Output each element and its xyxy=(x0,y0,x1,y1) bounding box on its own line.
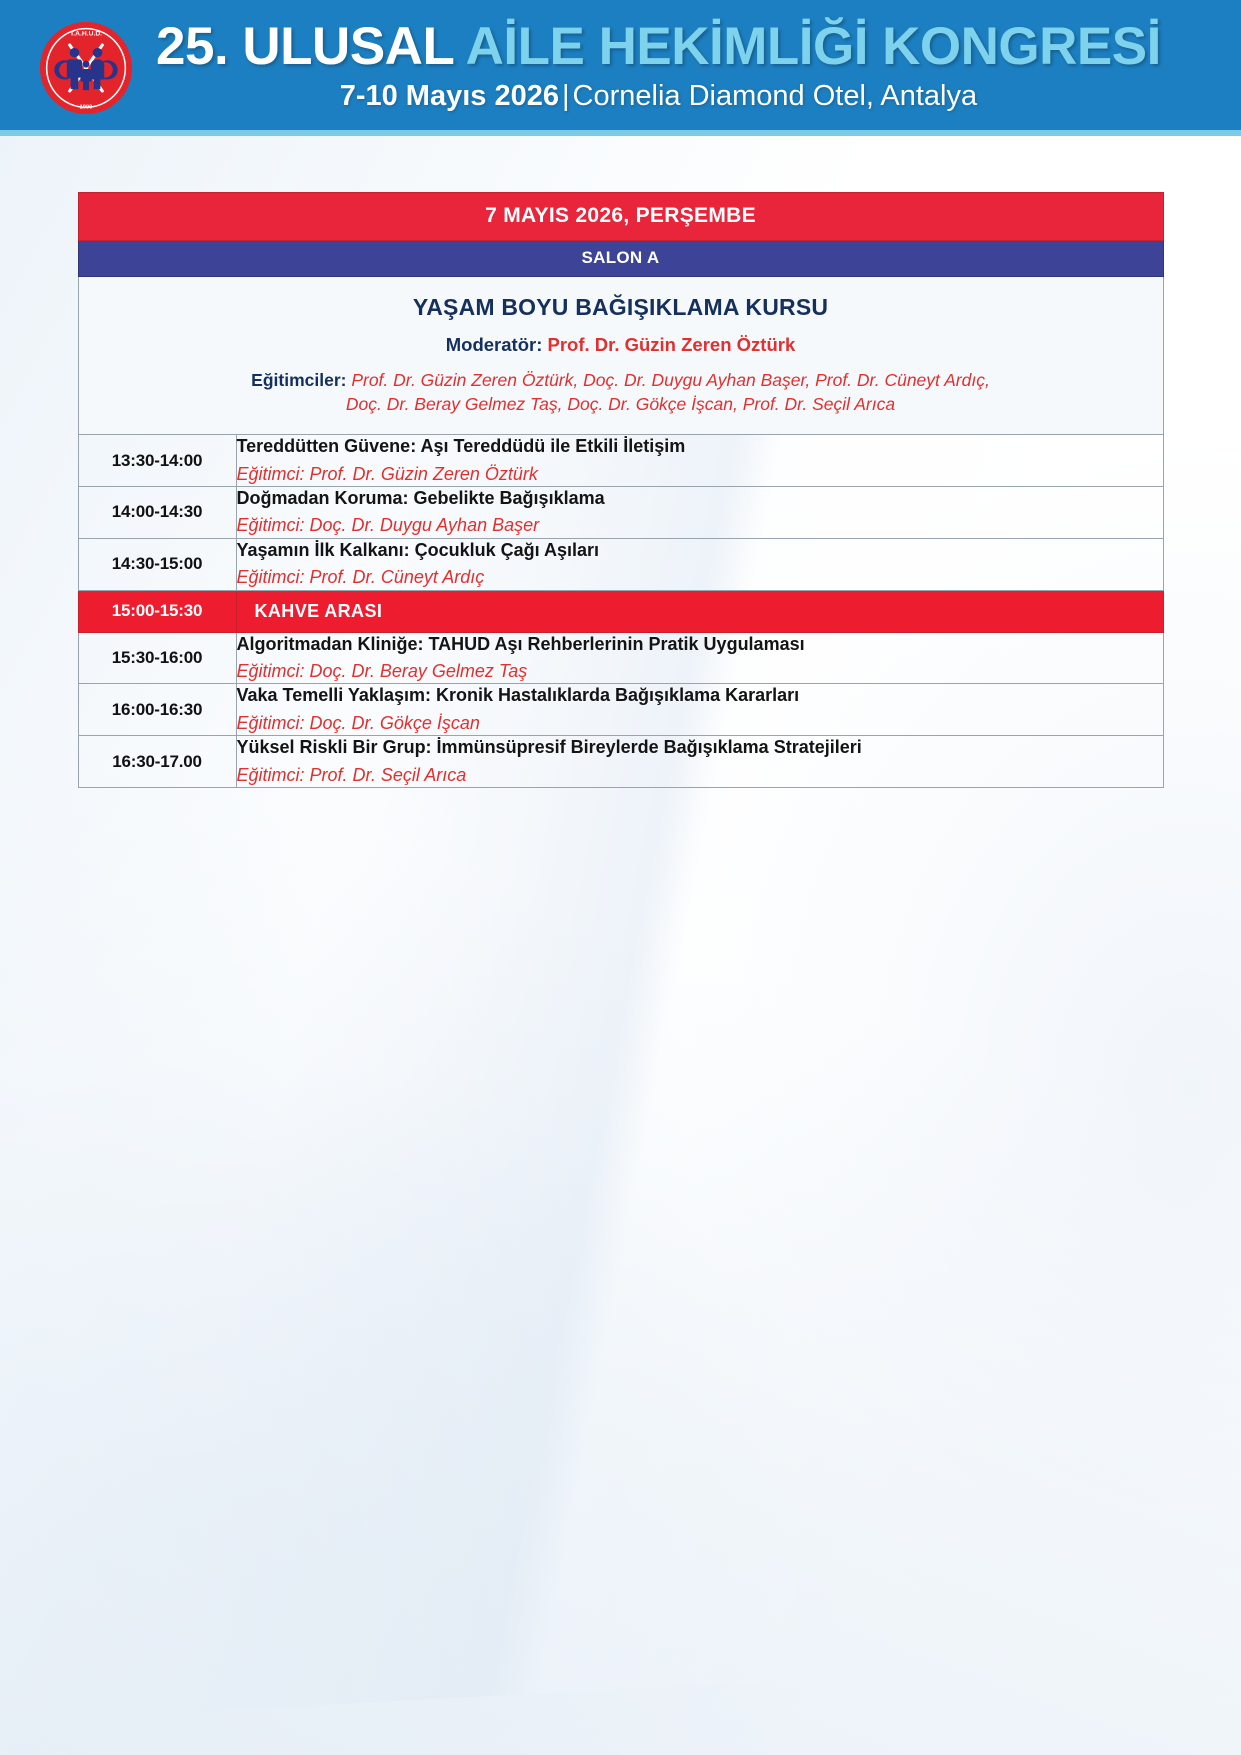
course-header-row: YAŞAM BOYU BAĞIŞIKLAMA KURSU Moderatör: … xyxy=(78,277,1163,435)
session-speaker: Eğitimci: Doç. Dr. Gökçe İşcan xyxy=(237,712,1163,735)
session-time: 14:00-14:30 xyxy=(78,487,236,539)
day-header-row: 7 MAYIS 2026, PERŞEMBE xyxy=(78,193,1163,241)
session-time: 13:30-14:00 xyxy=(78,435,236,487)
trainers-label: Eğitimciler: xyxy=(251,370,351,390)
session-title: Yüksel Riskli Bir Grup: İmmünsüpresif Bi… xyxy=(237,736,1163,759)
session-time: 14:30-15:00 xyxy=(78,538,236,590)
session-detail: Doğmadan Koruma: Gebelikte Bağışıklama E… xyxy=(236,487,1163,539)
break-time: 15:00-15:30 xyxy=(78,590,236,632)
program-table: 7 MAYIS 2026, PERŞEMBE SALON A YAŞAM BOY… xyxy=(78,192,1164,788)
table-row: 14:00-14:30 Doğmadan Koruma: Gebelikte B… xyxy=(78,487,1163,539)
session-detail: Vaka Temelli Yaklaşım: Kronik Hastalıkla… xyxy=(236,684,1163,736)
table-row: 14:30-15:00 Yaşamın İlk Kalkanı: Çocuklu… xyxy=(78,538,1163,590)
program-sheet: 7 MAYIS 2026, PERŞEMBE SALON A YAŞAM BOY… xyxy=(0,136,1241,788)
congress-title-part1: 25. ULUSAL xyxy=(156,17,466,76)
moderator-label: Moderatör: xyxy=(446,334,548,355)
session-speaker: Eğitimci: Prof. Dr. Güzin Zeren Öztürk xyxy=(237,463,1163,486)
session-title: Vaka Temelli Yaklaşım: Kronik Hastalıkla… xyxy=(237,684,1163,707)
course-header-cell: YAŞAM BOYU BAĞIŞIKLAMA KURSU Moderatör: … xyxy=(78,277,1163,435)
day-header-cell: 7 MAYIS 2026, PERŞEMBE xyxy=(78,193,1163,241)
course-trainers: Eğitimciler: Prof. Dr. Güzin Zeren Öztür… xyxy=(105,369,1137,416)
session-title: Yaşamın İlk Kalkanı: Çocukluk Çağı Aşıla… xyxy=(237,539,1163,562)
congress-venue: Cornelia Diamond Otel, Antalya xyxy=(573,80,978,112)
session-detail: Algoritmadan Kliniğe: TAHUD Aşı Rehberle… xyxy=(236,632,1163,684)
table-row: 15:30-16:00 Algoritmadan Kliniğe: TAHUD … xyxy=(78,632,1163,684)
session-title: Tereddütten Güvene: Aşı Tereddüdü ile Et… xyxy=(237,435,1163,458)
session-speaker: Eğitimci: Prof. Dr. Cüneyt Ardıç xyxy=(237,566,1163,589)
session-detail: Yaşamın İlk Kalkanı: Çocukluk Çağı Aşıla… xyxy=(236,538,1163,590)
moderator-name: Prof. Dr. Güzin Zeren Öztürk xyxy=(548,334,796,355)
subtitle-separator: | xyxy=(562,80,570,112)
session-speaker: Eğitimci: Prof. Dr. Seçil Arıca xyxy=(237,764,1163,787)
congress-dates: 7-10 Mayıs 2026 xyxy=(340,80,559,112)
congress-subtitle: 7-10 Mayıs 2026|Cornelia Diamond Otel, A… xyxy=(156,79,1161,114)
banner-text-group: 25. ULUSAL AİLE HEKİMLİĞİ KONGRESİ 7-10 … xyxy=(156,19,1161,118)
congress-title-part2: AİLE HEKİMLİĞİ KONGRESİ xyxy=(466,17,1161,76)
program-table-body: 7 MAYIS 2026, PERŞEMBE SALON A YAŞAM BOY… xyxy=(78,193,1163,788)
course-title: YAŞAM BOYU BAĞIŞIKLAMA KURSU xyxy=(105,294,1137,321)
break-label: KAHVE ARASI xyxy=(236,590,1163,632)
trainers-line-2: Doç. Dr. Beray Gelmez Taş, Doç. Dr. Gökç… xyxy=(346,394,895,414)
session-detail: Yüksel Riskli Bir Grup: İmmünsüpresif Bi… xyxy=(236,736,1163,788)
session-title: Algoritmadan Kliniğe: TAHUD Aşı Rehberle… xyxy=(237,633,1163,656)
session-speaker: Eğitimci: Doç. Dr. Beray Gelmez Taş xyxy=(237,660,1163,683)
table-row: 16:00-16:30 Vaka Temelli Yaklaşım: Kroni… xyxy=(78,684,1163,736)
table-row: 13:30-14:00 Tereddütten Güvene: Aşı Tere… xyxy=(78,435,1163,487)
tahud-seal-logo-icon: T.A.H.U.D. 1990 xyxy=(38,20,134,116)
session-time: 16:00-16:30 xyxy=(78,684,236,736)
congress-header-banner: T.A.H.U.D. 1990 25. ULUSAL AİLE HEKİMLİĞ… xyxy=(0,0,1241,136)
hall-header-cell: SALON A xyxy=(78,241,1163,277)
hall-header-row: SALON A xyxy=(78,241,1163,277)
coffee-break-row: 15:00-15:30 KAHVE ARASI xyxy=(78,590,1163,632)
session-title: Doğmadan Koruma: Gebelikte Bağışıklama xyxy=(237,487,1163,510)
session-detail: Tereddütten Güvene: Aşı Tereddüdü ile Et… xyxy=(236,435,1163,487)
session-time: 15:30-16:00 xyxy=(78,632,236,684)
congress-title: 25. ULUSAL AİLE HEKİMLİĞİ KONGRESİ xyxy=(156,19,1161,74)
session-speaker: Eğitimci: Doç. Dr. Duygu Ayhan Başer xyxy=(237,514,1163,537)
svg-text:T.A.H.U.D.: T.A.H.U.D. xyxy=(70,30,102,37)
course-moderator: Moderatör: Prof. Dr. Güzin Zeren Öztürk xyxy=(105,334,1137,356)
table-row: 16:30-17.00 Yüksel Riskli Bir Grup: İmmü… xyxy=(78,736,1163,788)
svg-text:1990: 1990 xyxy=(80,104,93,110)
trainers-line-1: Prof. Dr. Güzin Zeren Öztürk, Doç. Dr. D… xyxy=(351,370,990,390)
session-time: 16:30-17.00 xyxy=(78,736,236,788)
